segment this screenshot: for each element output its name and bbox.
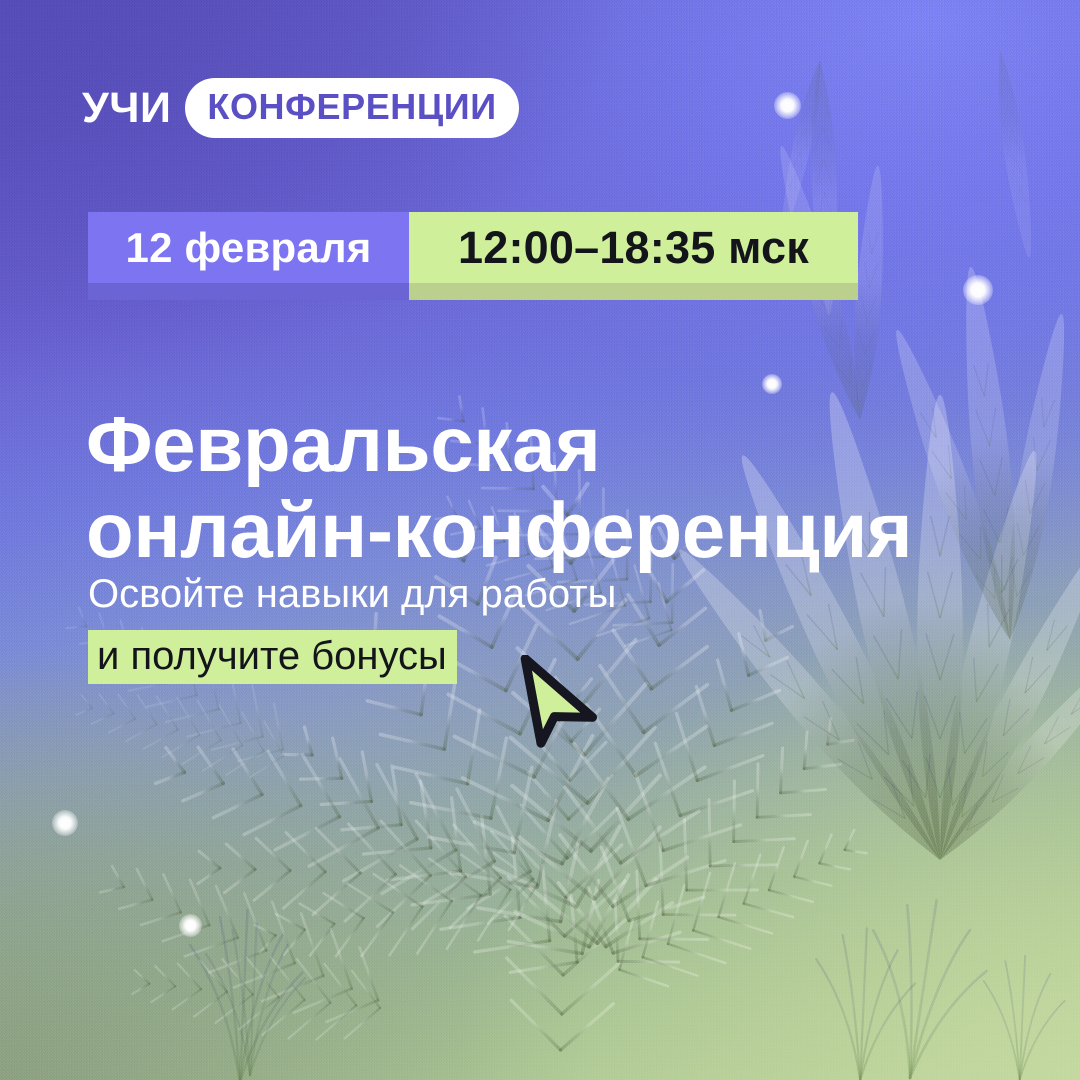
page-title: Февральская онлайн-конференция [86,402,1006,574]
page-subtitle-line-2: и получите бонусы [88,628,788,685]
brand-pill-badge: КОНФЕРЕНЦИИ [185,78,518,138]
page-subtitle: Освойте навыки для работы и получите бон… [88,566,788,685]
event-time-badge-foot [409,283,858,300]
brand-logo: УЧИ КОНФЕРЕНЦИИ [82,78,519,138]
event-time-badge: 12:00–18:35 мск [409,212,858,283]
brand-wordmark: УЧИ [82,87,171,130]
event-schedule-badges: 12 февраля 12:00–18:35 мск [88,212,858,283]
page-subtitle-highlight: и получите бонусы [88,630,457,684]
page-title-line-2: онлайн-конференция [86,488,1006,574]
promo-poster: УЧИ КОНФЕРЕНЦИИ 12 февраля 12:00–18:35 м… [0,0,1080,1080]
event-time-badge-face: 12:00–18:35 мск [409,212,858,283]
event-time-label: 12:00–18:35 мск [458,225,809,270]
event-date-badge-face: 12 февраля [88,212,409,283]
event-date-label: 12 февраля [126,227,372,269]
page-subtitle-line-1: Освойте навыки для работы [88,566,788,623]
page-title-line-1: Февральская [86,402,1006,488]
event-date-badge-foot [88,283,409,300]
event-date-badge: 12 февраля [88,212,409,283]
